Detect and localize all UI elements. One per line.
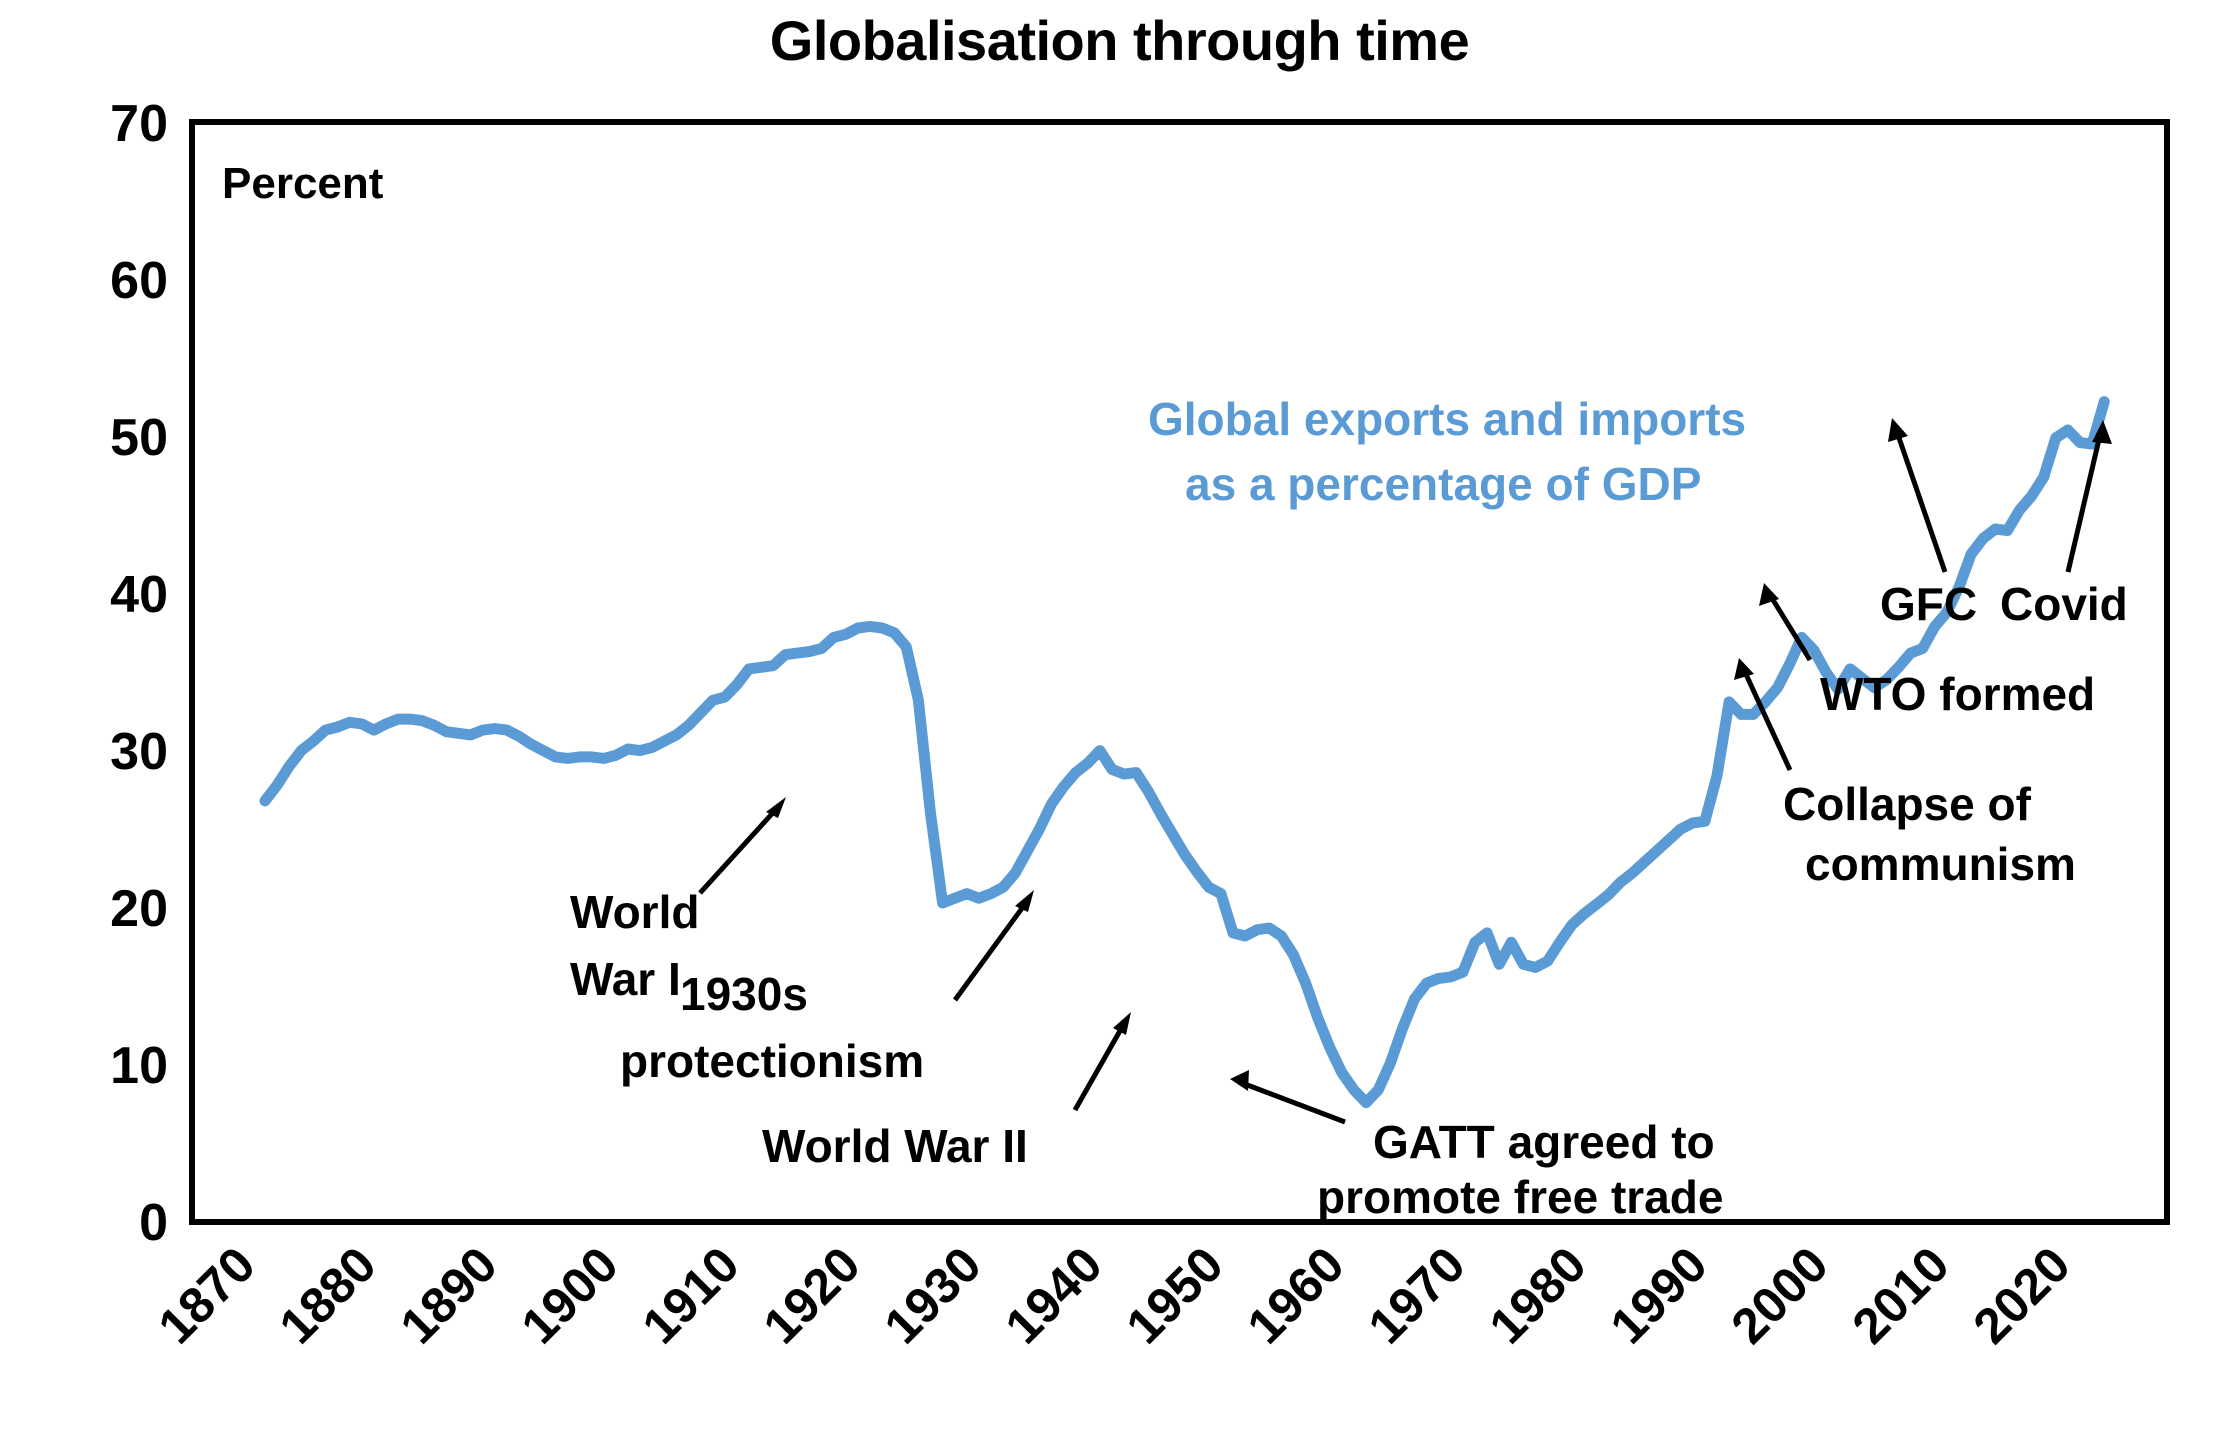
annotation-gatt-leader [1242, 1083, 1345, 1122]
x-tick-2010: 2010 [1842, 1236, 1960, 1354]
annotation-world-war-2-arrowhead [1113, 1012, 1131, 1035]
annotation-gatt-arrowhead [1230, 1070, 1249, 1091]
unit-label: Percent [222, 159, 384, 208]
annotation-world-war-1-line-1: World [570, 886, 699, 938]
annotation-collapse-line-2: communism [1805, 838, 2076, 890]
annotation-covid-label: Covid [2000, 578, 2128, 630]
x-tick-1870: 1870 [148, 1236, 266, 1354]
annotation-gatt: GATT agreed to promote free trade [1230, 1070, 1723, 1223]
chart-figure: Globalisation through time 70 60 50 40 3… [0, 0, 2239, 1456]
x-tick-1970: 1970 [1358, 1236, 1476, 1354]
y-tick-0: 0 [139, 1194, 168, 1252]
x-tick-1980: 1980 [1479, 1236, 1597, 1354]
y-axis-tick-labels: 70 60 50 40 30 20 10 0 [110, 95, 168, 1252]
y-tick-60: 60 [110, 252, 168, 310]
annotation-gfc-arrowhead [1888, 418, 1908, 442]
annotation-gfc-leader [1897, 432, 1945, 572]
x-tick-1950: 1950 [1116, 1236, 1234, 1354]
annotation-gatt-line-2: promote free trade [1317, 1171, 1723, 1223]
x-tick-1940: 1940 [995, 1236, 1113, 1354]
x-tick-1920: 1920 [753, 1236, 871, 1354]
x-tick-1900: 1900 [511, 1236, 629, 1354]
x-axis-tick-labels: 1870 1880 1890 1900 1910 1920 1930 1940 … [148, 1236, 2081, 1354]
x-tick-1990: 1990 [1600, 1236, 1718, 1354]
annotation-world-war-2-leader [1075, 1022, 1125, 1110]
y-tick-40: 40 [110, 566, 168, 624]
y-tick-70: 70 [110, 95, 168, 153]
annotation-covid: Covid [2000, 420, 2128, 630]
page-title: Globalisation through time [0, 8, 2239, 73]
annotation-world-war-1-line-2: War I [570, 953, 681, 1005]
annotation-wto-line-1: WTO formed [1820, 668, 2095, 720]
annotation-gfc-label: GFC [1880, 578, 1977, 630]
series-label: Global exports and imports as a percenta… [1148, 393, 1746, 510]
series-label-line-1: Global exports and imports [1148, 393, 1746, 445]
annotation-collapse-line-1: Collapse of [1783, 778, 2032, 830]
x-tick-1960: 1960 [1237, 1236, 1355, 1354]
annotation-gfc: GFC [1880, 418, 1977, 630]
annotation-world-war-1-leader [700, 805, 780, 893]
annotation-protectionism-line-2: protectionism [620, 1035, 924, 1087]
annotation-collapse-arrowhead [1734, 658, 1754, 680]
annotation-covid-leader [2068, 435, 2100, 572]
x-tick-2020: 2020 [1963, 1236, 2081, 1354]
annotation-protectionism-line-1: 1930s [680, 968, 808, 1020]
y-tick-20: 20 [110, 880, 168, 938]
y-tick-30: 30 [110, 723, 168, 781]
x-tick-1890: 1890 [390, 1236, 508, 1354]
x-tick-1880: 1880 [269, 1236, 387, 1354]
y-tick-50: 50 [110, 409, 168, 467]
x-tick-2000: 2000 [1721, 1236, 1839, 1354]
annotation-world-war-2-line-1: World War II [762, 1120, 1028, 1172]
annotation-protectionism-leader [955, 900, 1028, 1000]
annotation-protectionism-arrowhead [1015, 890, 1034, 912]
annotation-gatt-line-1: GATT agreed to [1373, 1116, 1715, 1168]
x-tick-1930: 1930 [874, 1236, 992, 1354]
y-tick-10: 10 [110, 1037, 168, 1095]
x-tick-1910: 1910 [632, 1236, 750, 1354]
line-chart: 70 60 50 40 30 20 10 0 1870 1880 1890 19… [0, 0, 2239, 1456]
series-label-line-2: as a percentage of GDP [1185, 458, 1701, 510]
